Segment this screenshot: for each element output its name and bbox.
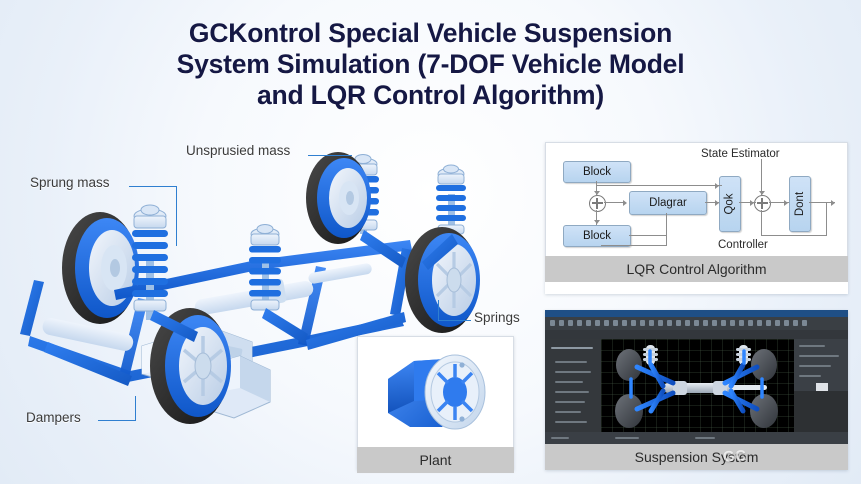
block-bottom[interactable]: Block xyxy=(563,225,631,247)
wire-feedback-up xyxy=(761,210,762,236)
callout-springs: Springs xyxy=(474,310,520,325)
leader-dampers-v xyxy=(135,396,136,421)
cad-status-bar xyxy=(545,432,848,444)
title-line-1: GCKontrol Special Vehicle Suspension xyxy=(0,18,861,49)
wire-diagram-down xyxy=(666,213,667,246)
cad-model-tree[interactable] xyxy=(545,339,601,432)
block-qok[interactable]: Qok xyxy=(719,176,741,232)
summing-junction-right xyxy=(754,195,771,212)
block-top[interactable]: Block xyxy=(563,161,631,183)
title-line-2: System Simulation (7-DOF Vehicle Model xyxy=(0,49,861,80)
label-controller: Controller xyxy=(718,239,768,251)
arrow-sum-to-bottom xyxy=(594,220,600,224)
slide-canvas: GCKontrol Special Vehicle Suspension Sys… xyxy=(0,0,861,484)
damper-front-right xyxy=(436,165,466,234)
lqr-panel-caption: LQR Control Algorithm xyxy=(545,256,848,282)
leader-sprung-v xyxy=(176,186,177,246)
arrow-dont-out xyxy=(831,200,835,206)
cad-viewport[interactable] xyxy=(601,339,794,432)
leader-springs-v xyxy=(438,300,439,321)
plant-wheel-hub-illustration xyxy=(358,337,513,447)
block-bottom-label: Block xyxy=(583,230,611,242)
leader-springs xyxy=(438,320,471,321)
leader-dampers xyxy=(98,420,136,421)
arrow-top-feed xyxy=(715,183,719,189)
suspension-panel-caption: Suspension System GC xyxy=(545,444,848,470)
wire-top-feed xyxy=(596,185,722,186)
plant-panel-caption: Plant xyxy=(357,447,514,473)
lqr-diagram-body: State Estimator Controller Block Block D… xyxy=(545,142,848,256)
cad-toolbar-second xyxy=(545,330,848,339)
label-state-estimator: State Estimator xyxy=(701,148,780,160)
lqr-panel: State Estimator Controller Block Block D… xyxy=(545,142,848,294)
summing-junction-left xyxy=(589,195,606,212)
callout-sprung-mass: Sprung mass xyxy=(30,175,110,190)
block-diagram[interactable]: Dlagrar xyxy=(629,191,707,215)
wire-feedback-right-h xyxy=(761,235,827,236)
block-diagram-label: Dlagrar xyxy=(649,197,687,209)
plant-panel: Plant xyxy=(357,336,514,470)
callout-unsprung-mass: Unsprusied mass xyxy=(186,143,290,158)
wire-estimator-down xyxy=(761,159,762,195)
arrow-sum-to-diagram xyxy=(623,200,627,206)
arrow-diagram-to-qok xyxy=(715,200,719,206)
block-dont-label: Dont xyxy=(794,192,806,216)
block-dont[interactable]: Dont xyxy=(789,176,811,232)
wheel-rear-left xyxy=(62,212,139,324)
cad-properties-panel[interactable] xyxy=(794,339,848,391)
wire-bottom-return xyxy=(601,245,667,246)
cad-application-window xyxy=(545,310,848,444)
plant-image-body xyxy=(357,336,514,447)
callout-dampers: Dampers xyxy=(26,410,81,425)
arrow-sum2-to-dont xyxy=(784,200,788,206)
suspension-caption-text: Suspension System xyxy=(635,449,759,465)
block-top-label: Block xyxy=(583,166,611,178)
leader-unsprung xyxy=(308,155,352,156)
cad-title-bar xyxy=(545,310,848,317)
title-line-3: and LQR Control Algorithm) xyxy=(0,80,861,111)
arrow-qok-to-sum2 xyxy=(750,200,754,206)
wire-sum-to-diagram xyxy=(604,202,625,203)
leader-sprung-h xyxy=(129,186,177,187)
wire-block-bottom-out xyxy=(629,235,667,236)
block-qok-label: Qok xyxy=(724,193,736,214)
suspension-panel: Suspension System GC xyxy=(545,310,848,470)
page-title: GCKontrol Special Vehicle Suspension Sys… xyxy=(0,18,861,111)
arrow-estimator-down xyxy=(759,191,765,195)
wire-feedback-right-v xyxy=(826,202,827,236)
cad-screenshot-body[interactable] xyxy=(545,310,848,444)
suspension-3d-model xyxy=(601,339,794,432)
arrow-top-to-sum xyxy=(594,191,600,195)
